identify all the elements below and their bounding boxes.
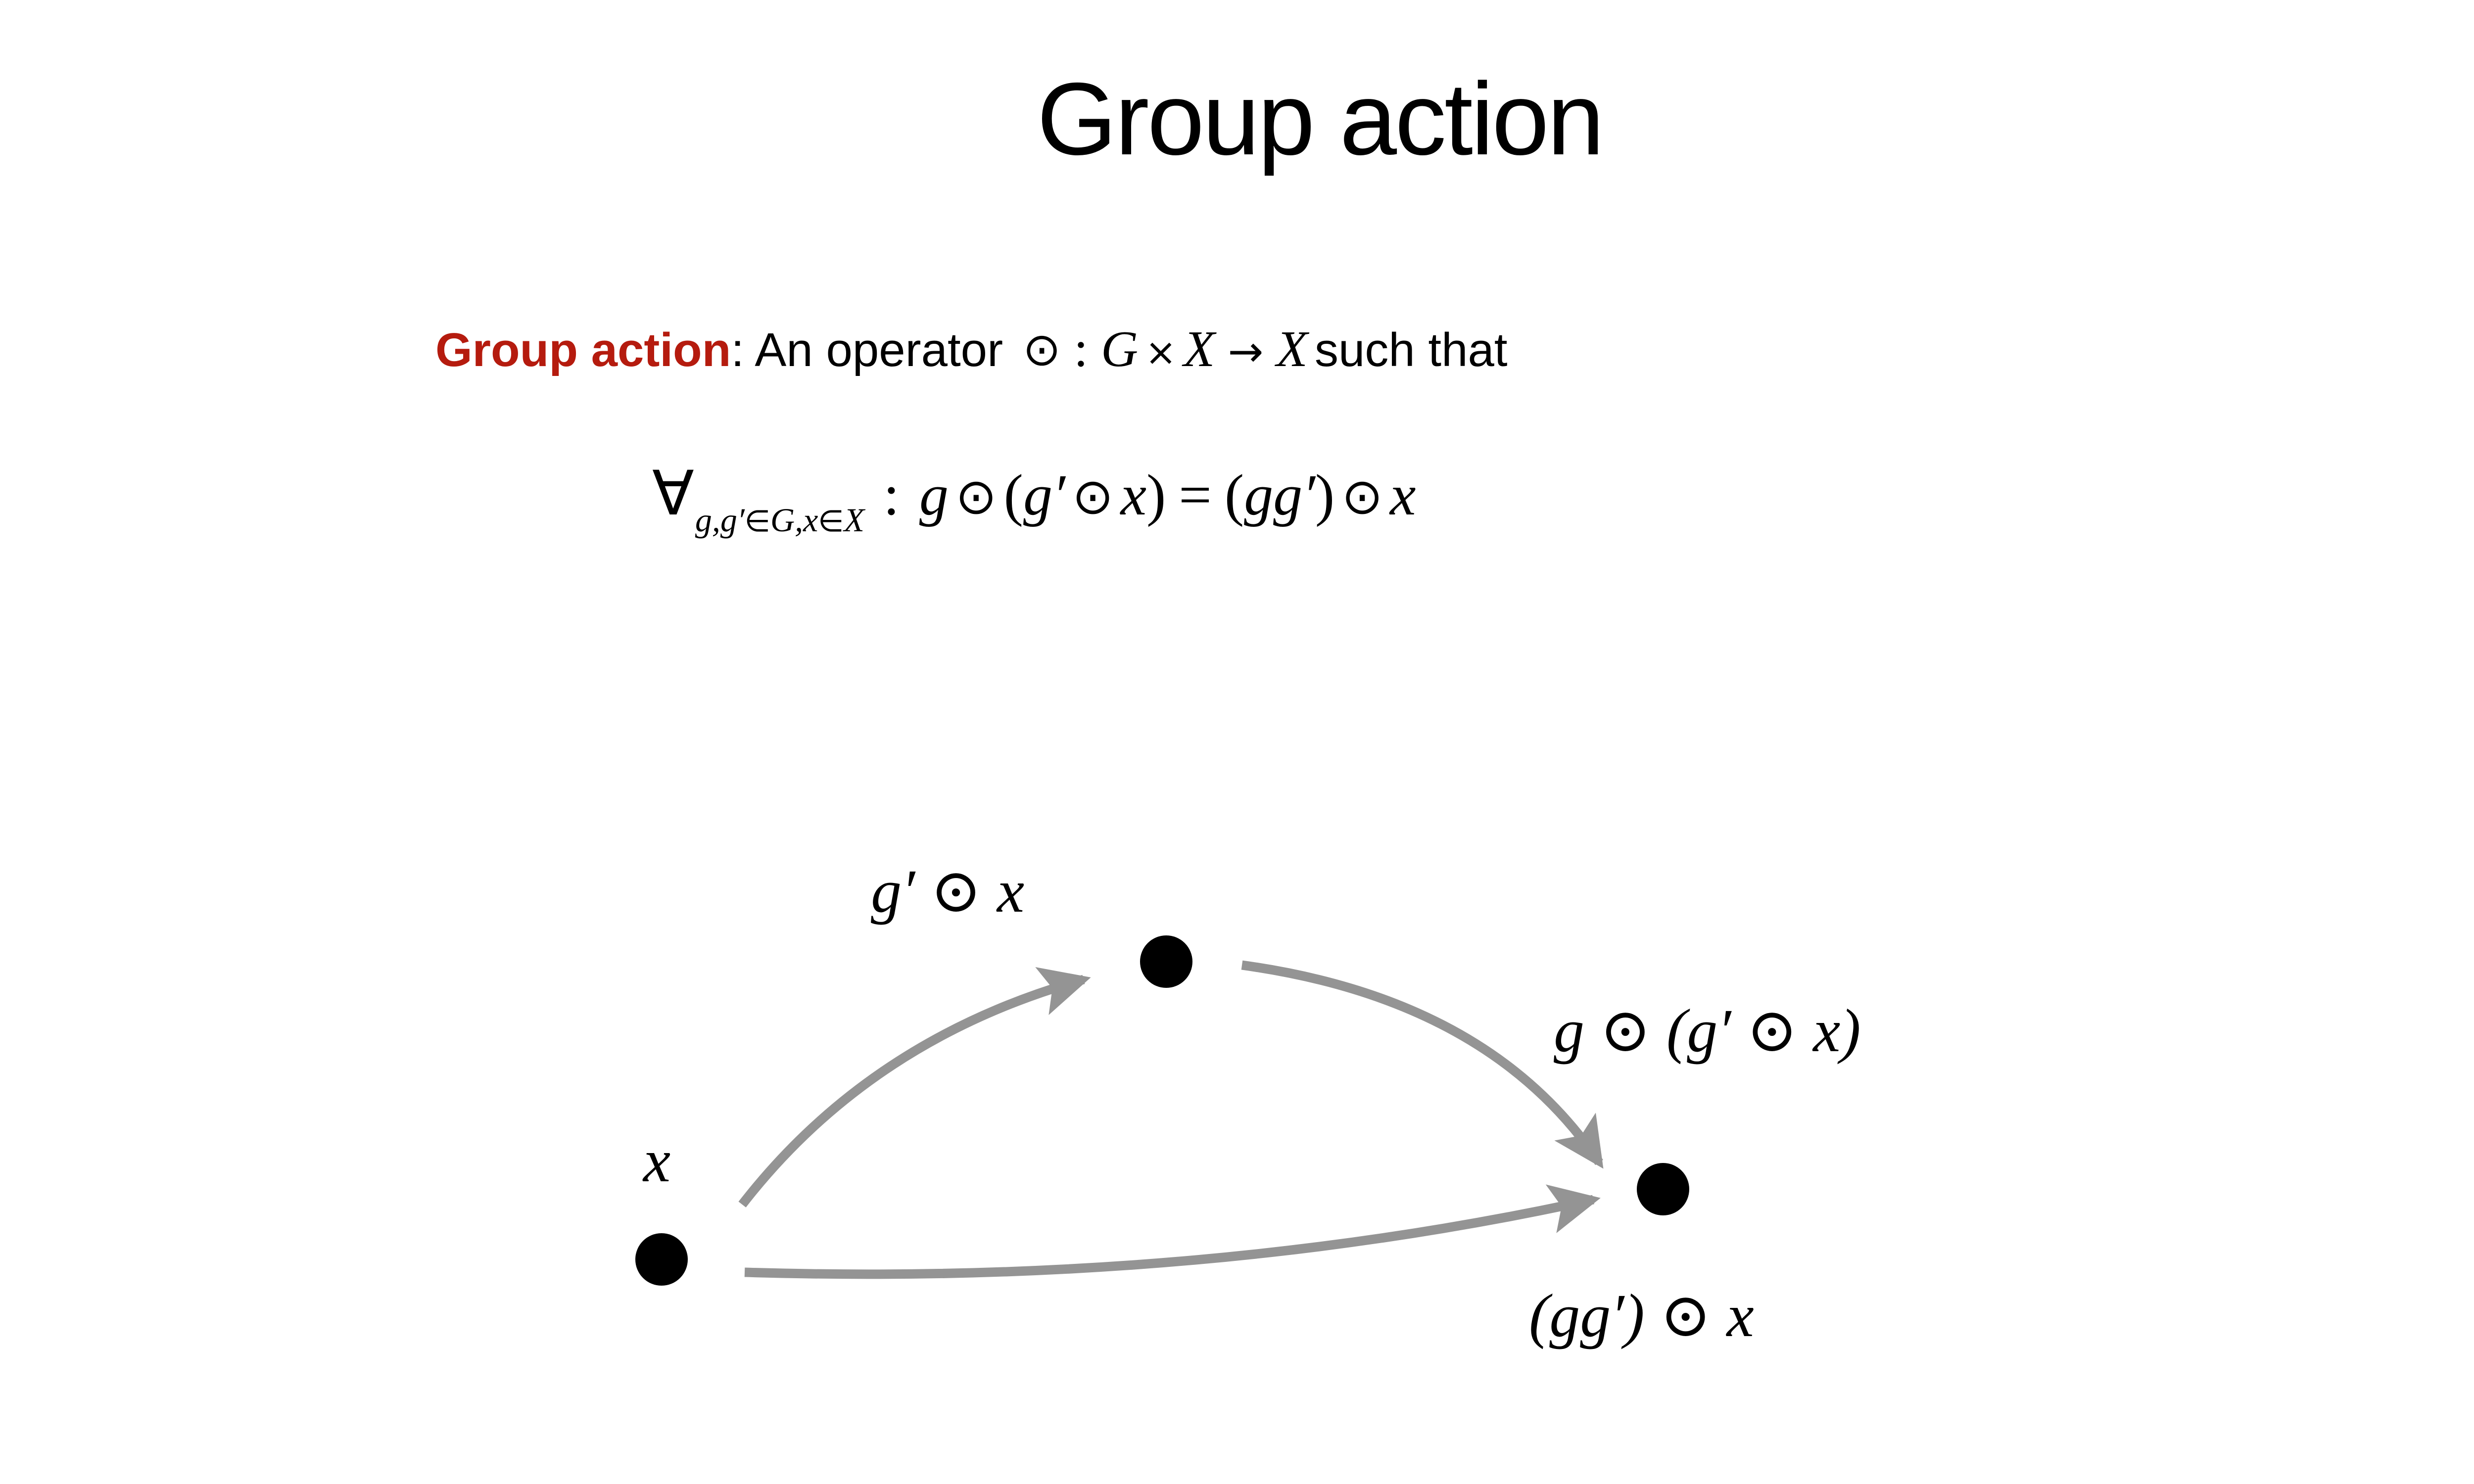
cartesian-product-icon: × (1145, 330, 1177, 374)
subscript-vars: g,g (695, 501, 737, 539)
arrow-gprime-x-to-result (1242, 965, 1599, 1162)
lhs-operator-icon-1: ⊙ (955, 467, 997, 525)
slide-canvas: Group action Group action: An operator⊙:… (0, 0, 2474, 1484)
rhs-operator-icon: ⊙ (1341, 467, 1383, 525)
element-of-icon-1: ∈ (745, 504, 770, 539)
diagram-label-source: x (643, 1130, 670, 1192)
subscript-group: G,x (770, 501, 818, 539)
definition-trailing-text: such that (1315, 324, 1508, 376)
arrow-x-to-gprime-x (742, 979, 1084, 1205)
forall-quantifier-icon: ∀ (652, 458, 694, 529)
diagram-label-bottom: (gg′) ⊙ x (1529, 1285, 1754, 1346)
rhs-gg-prime: gg′ (1244, 463, 1315, 527)
element-of-icon-2: ∈ (818, 504, 844, 539)
maps-to-arrow-icon: → (1228, 327, 1263, 376)
rhs-x: x (1390, 463, 1416, 527)
lhs-g: g (919, 463, 949, 527)
domain-right: X (1184, 321, 1215, 377)
arrow-x-to-result (745, 1200, 1593, 1274)
diagram-label-top: g′ ⊙ x (871, 861, 1024, 922)
axiom-colon: : (883, 463, 900, 527)
node-dot-g-act-g-prime-act-x (1637, 1163, 1689, 1215)
codomain: X (1276, 321, 1308, 377)
lhs-close-paren: ) (1146, 463, 1166, 527)
quantifier-subscript: g,g′∈G,x∈X (695, 502, 864, 539)
diagram-label-right: g ⊙ (g′ ⊙ x) (1554, 1000, 1861, 1062)
group-action-axiom: ∀g,g′∈G,x∈X:g⊙(g′⊙x)=(gg′)⊙x (652, 460, 1416, 527)
lhs-g-prime: g′ (1023, 463, 1065, 527)
node-dot-x (635, 1233, 688, 1286)
lhs-x: x (1121, 463, 1146, 527)
node-dot-g-prime-act-x (1140, 935, 1192, 988)
subscript-prime: ′ (737, 501, 745, 539)
equals-sign: = (1179, 463, 1212, 527)
page-title: Group action (0, 65, 2474, 173)
group-action-diagram (0, 0, 2474, 1484)
operator-symbol: ⊙ (1023, 323, 1061, 376)
rhs-close-paren: ) (1315, 463, 1334, 527)
definition-line: Group action: An operator⊙:G×X→Xsuch tha… (435, 321, 1508, 378)
definition-term: Group action (435, 324, 731, 376)
lhs-open-paren: ( (1004, 463, 1023, 527)
rhs-open-paren: ( (1225, 463, 1244, 527)
subscript-set: X (844, 501, 865, 539)
definition-intro-text: : An operator (731, 324, 1003, 376)
domain-left: G (1101, 321, 1138, 377)
lhs-operator-icon-2: ⊙ (1072, 467, 1114, 525)
maps-colon: : (1074, 321, 1088, 377)
